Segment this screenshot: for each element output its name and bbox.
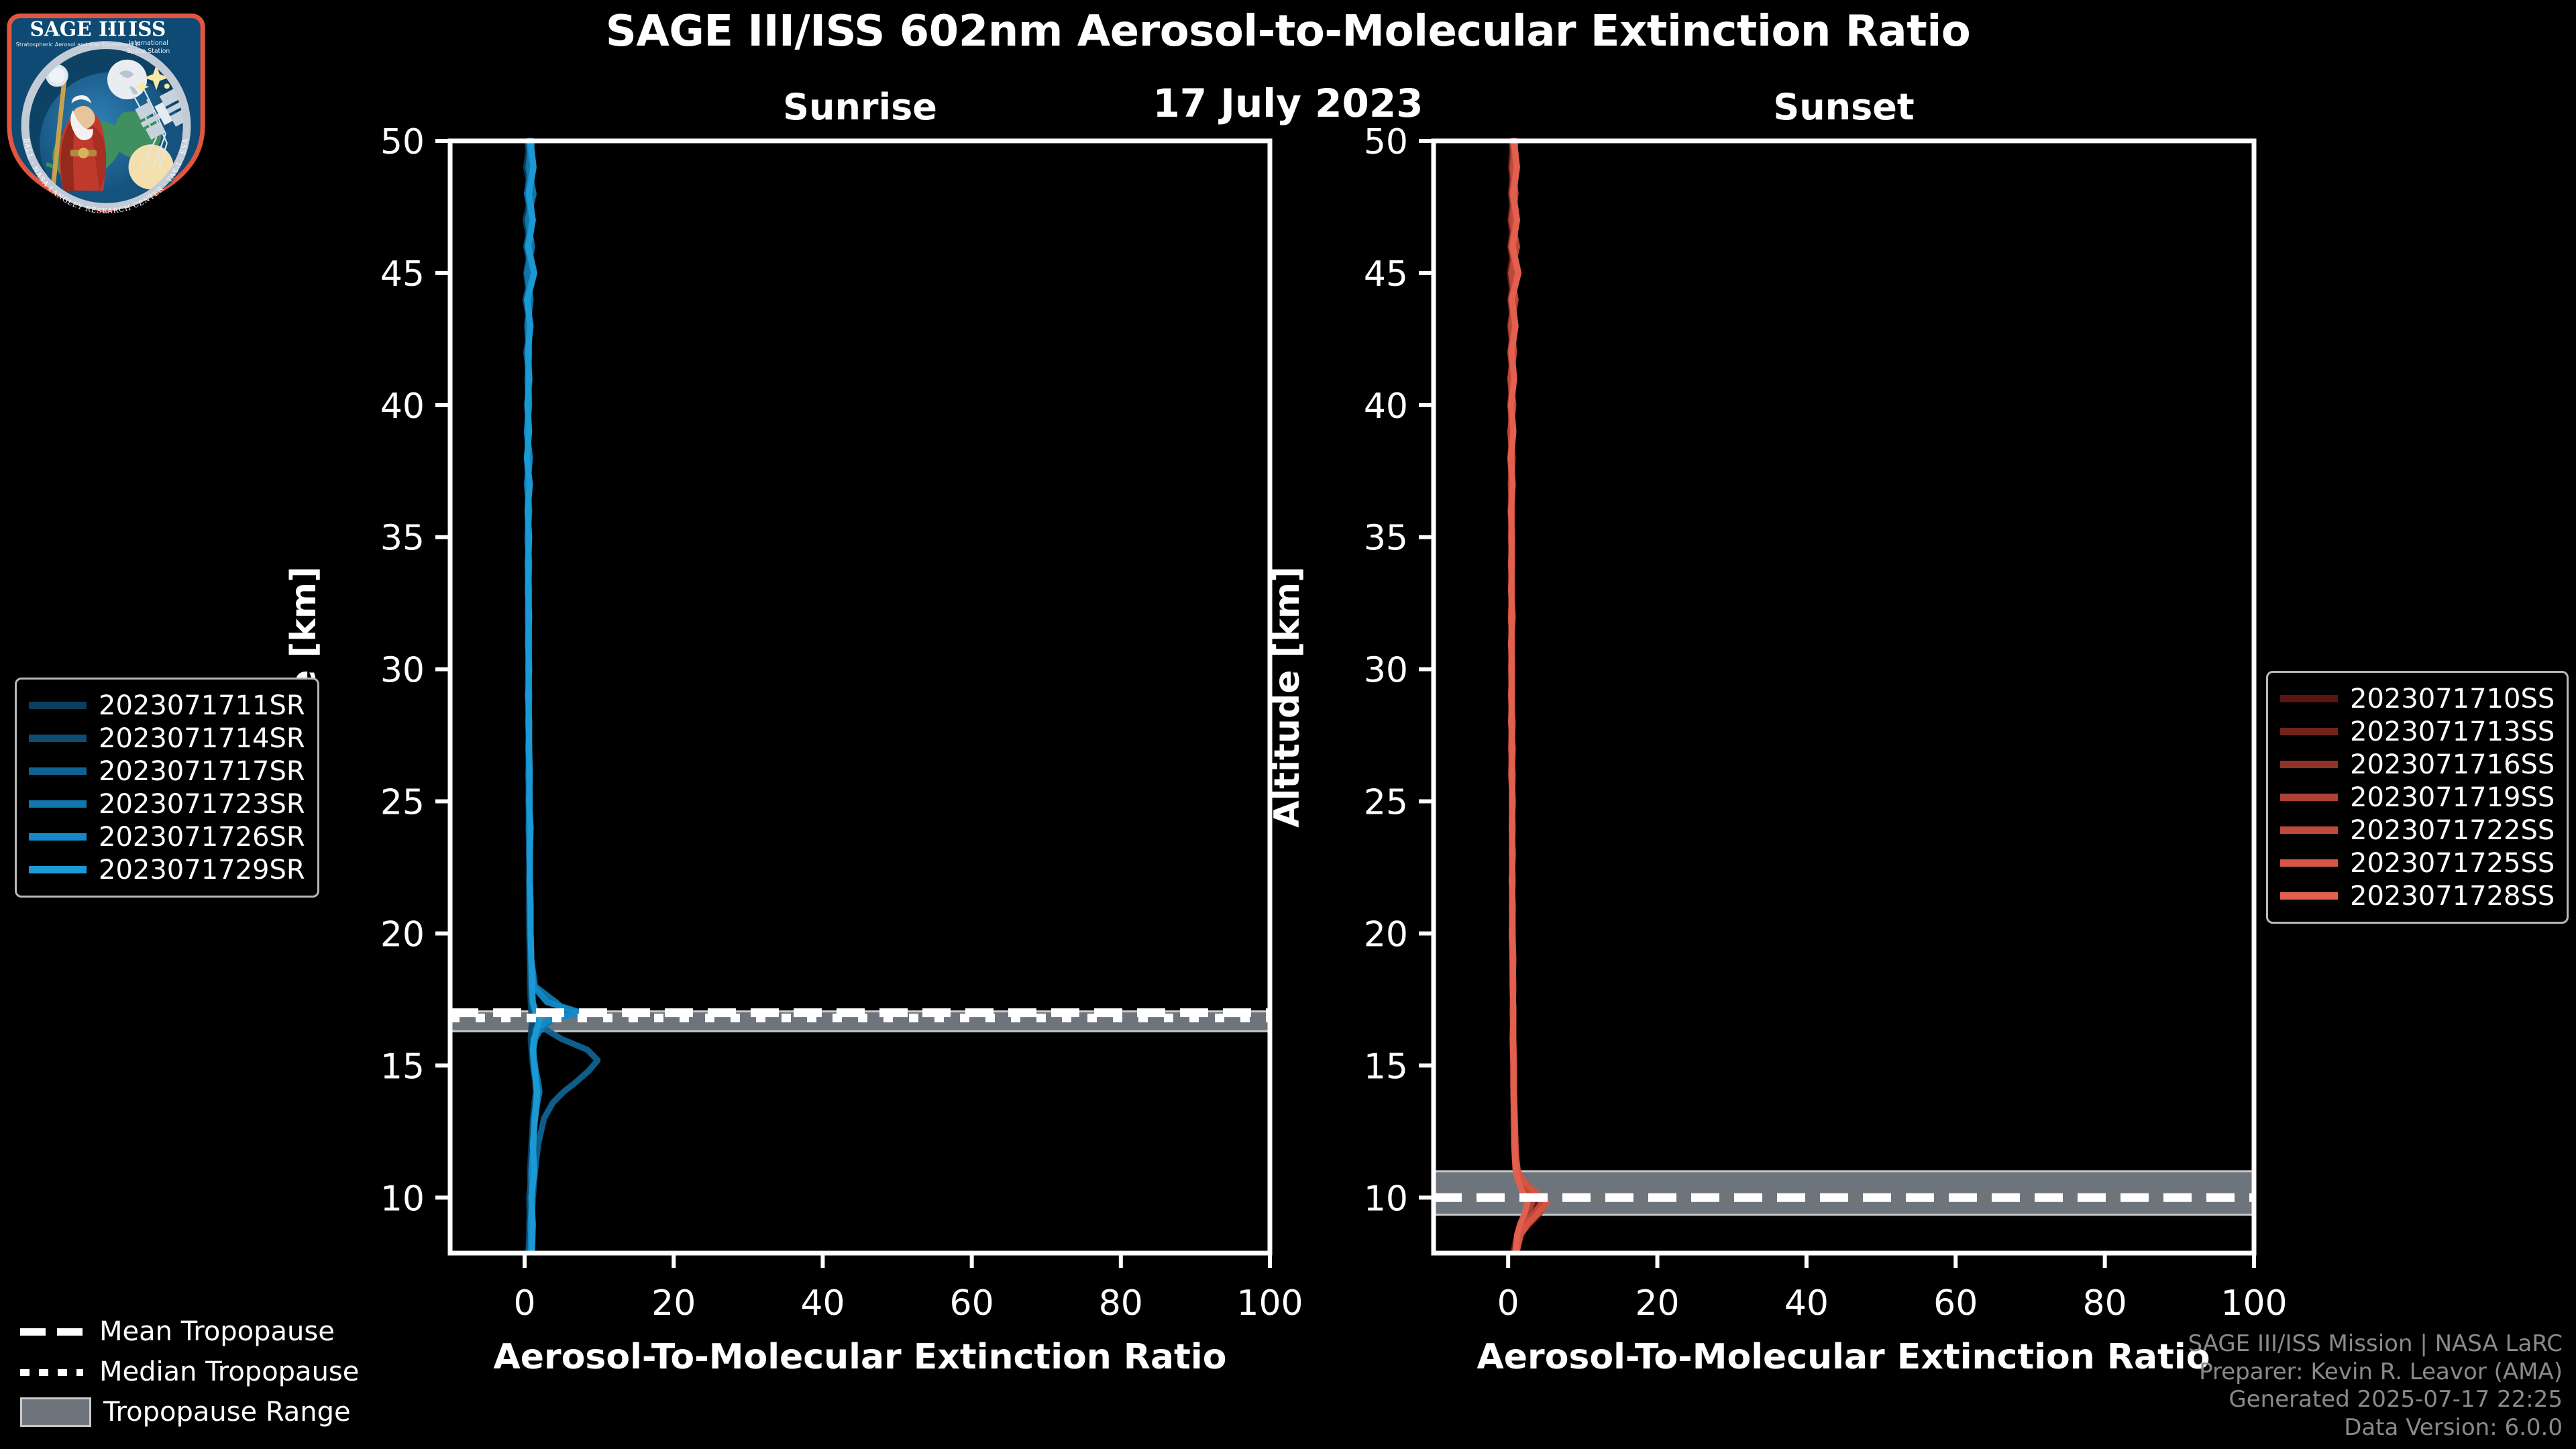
legend-label: 2023071723SR (99, 789, 305, 820)
legend-label: 2023071719SS (2350, 782, 2555, 813)
legend-color-swatch (2280, 892, 2338, 900)
y-tick-label: 10 (1364, 1179, 1408, 1219)
y-tick-label: 25 (380, 783, 425, 823)
patch-title-left: SAGE III (30, 17, 126, 40)
legend-color-swatch (2280, 761, 2338, 768)
legend-label-range: Tropopause Range (103, 1397, 351, 1428)
legend-sunset[interactable]: 2023071710SS2023071713SS2023071716SS2023… (2266, 671, 2569, 924)
legend-label: 2023071713SS (2350, 716, 2555, 747)
patch-subtitle-right-2: Space Station (127, 48, 170, 55)
legend-sunset-item[interactable]: 2023071725SS (2280, 847, 2555, 879)
legend-color-swatch (29, 735, 87, 742)
x-tick-label: 20 (651, 1283, 696, 1324)
panel-sunrise: 020406080100101520253035404550Aerosol-To… (284, 122, 1303, 1377)
legend-label: 2023071726SR (99, 822, 305, 853)
legend-label: 2023071717SR (99, 756, 305, 787)
legend-label-median: Median Tropopause (99, 1356, 359, 1387)
x-tick-label: 60 (1933, 1283, 1978, 1324)
legend-tropopause: Mean Tropopause Median Tropopause Tropop… (20, 1311, 359, 1432)
legend-item-tropopause-range: Tropopause Range (20, 1392, 359, 1432)
y-tick-label: 45 (380, 254, 425, 294)
range-band-icon (20, 1397, 91, 1427)
legend-sunset-item[interactable]: 2023071713SS (2280, 715, 2555, 748)
x-axis-label: Aerosol-To-Molecular Extinction Ratio (494, 1337, 1227, 1377)
series-line (527, 141, 539, 1250)
footer-line-version: Data Version: 6.0.0 (2188, 1414, 2563, 1442)
patch-dot: · (107, 19, 112, 38)
legend-label: 2023071729SR (99, 855, 305, 885)
legend-sunrise-item[interactable]: 2023071726SR (29, 820, 305, 853)
legend-item-median-tropopause: Median Tropopause (20, 1352, 359, 1392)
legend-sunset-item[interactable]: 2023071722SS (2280, 814, 2555, 847)
y-tick-label: 40 (380, 386, 425, 427)
footer-line-preparer: Preparer: Kevin R. Leavor (AMA) (2188, 1358, 2563, 1387)
y-tick-label: 35 (380, 519, 425, 559)
legend-sunset-item[interactable]: 2023071716SS (2280, 748, 2555, 781)
sage-iii-iss-mission-patch: BALL · NASA LANGLEY RESEARCH CENTER · TA… (0, 1, 212, 213)
y-tick-label: 35 (1364, 519, 1408, 559)
legend-color-swatch (29, 800, 87, 808)
y-tick-label: 30 (1364, 651, 1408, 691)
panel-sunset: 020406080100101520253035404550Aerosol-To… (1267, 122, 2288, 1377)
legend-color-swatch (2280, 695, 2338, 702)
dotted-line-icon (20, 1363, 87, 1381)
y-tick-label: 25 (1364, 783, 1408, 823)
legend-sunrise-item[interactable]: 2023071711SR (29, 689, 305, 722)
plot-canvas: 020406080100101520253035404550Aerosol-To… (0, 0, 2576, 1449)
legend-color-swatch (2280, 859, 2338, 867)
x-tick-label: 80 (2083, 1283, 2127, 1324)
x-tick-label: 40 (1784, 1283, 1829, 1324)
y-tick-label: 20 (1364, 914, 1408, 955)
legend-item-mean-tropopause: Mean Tropopause (20, 1311, 359, 1352)
legend-sunrise-item[interactable]: 2023071717SR (29, 755, 305, 788)
legend-label: 2023071711SR (99, 690, 305, 721)
x-tick-label: 60 (950, 1283, 994, 1324)
x-tick-label: 100 (1236, 1283, 1303, 1324)
legend-label: 2023071728SS (2350, 881, 2555, 912)
x-axis-label: Aerosol-To-Molecular Extinction Ratio (1477, 1337, 2210, 1377)
x-tick-label: 40 (800, 1283, 845, 1324)
legend-sunset-item[interactable]: 2023071719SS (2280, 781, 2555, 814)
patch-subtitle-left: Stratospheric Aerosol and Gas Experiment… (16, 41, 141, 48)
legend-label: 2023071725SS (2350, 848, 2555, 879)
dashed-line-icon (20, 1323, 87, 1340)
legend-label: 2023071722SS (2350, 815, 2555, 846)
patch-title-right: ISS (128, 17, 166, 40)
legend-sunrise[interactable]: 2023071711SR2023071714SR2023071717SR2023… (15, 678, 319, 898)
tropopause-range-band (1434, 1171, 2254, 1215)
y-tick-label: 45 (1364, 254, 1408, 294)
x-tick-label: 0 (514, 1283, 536, 1324)
legend-sunrise-item[interactable]: 2023071729SR (29, 853, 305, 886)
legend-sunrise-item[interactable]: 2023071714SR (29, 722, 305, 755)
y-tick-label: 50 (1364, 122, 1408, 162)
footer-line-mission: SAGE III/ISS Mission | NASA LaRC (2188, 1330, 2563, 1358)
x-tick-label: 0 (1497, 1283, 1519, 1324)
x-tick-label: 80 (1099, 1283, 1143, 1324)
plot-frame (1434, 141, 2254, 1253)
legend-color-swatch (2280, 826, 2338, 834)
y-tick-label: 15 (1364, 1046, 1408, 1087)
y-tick-label: 15 (380, 1046, 425, 1087)
y-tick-label: 10 (380, 1179, 425, 1219)
y-tick-label: 30 (380, 651, 425, 691)
x-tick-label: 20 (1635, 1283, 1679, 1324)
footer-credits: SAGE III/ISS Mission | NASA LaRC Prepare… (2188, 1330, 2563, 1442)
legend-color-swatch (29, 833, 87, 841)
legend-color-swatch (2280, 794, 2338, 801)
legend-label: 2023071714SR (99, 723, 305, 754)
legend-color-swatch (2280, 728, 2338, 735)
legend-sunset-item[interactable]: 2023071728SS (2280, 879, 2555, 912)
legend-sunrise-item[interactable]: 2023071723SR (29, 788, 305, 820)
legend-label: 2023071710SS (2350, 684, 2555, 714)
footer-line-generated: Generated 2025-07-17 22:25 (2188, 1386, 2563, 1414)
legend-label-mean: Mean Tropopause (99, 1316, 335, 1347)
patch-subtitle-right-1: International (129, 40, 168, 47)
y-tick-label: 40 (1364, 386, 1408, 427)
legend-sunset-item[interactable]: 2023071710SS (2280, 682, 2555, 715)
y-axis-label: Altitude [km] (1267, 566, 1307, 828)
y-tick-label: 20 (380, 914, 425, 955)
legend-color-swatch (29, 702, 87, 709)
y-tick-label: 50 (380, 122, 425, 162)
series-line (1511, 141, 1528, 1250)
legend-color-swatch (29, 866, 87, 873)
x-tick-label: 100 (2220, 1283, 2287, 1324)
plot-page: SAGE III/ISS 602nm Aerosol-to-Molecular … (0, 0, 2576, 1449)
legend-label: 2023071716SS (2350, 749, 2555, 780)
legend-color-swatch (29, 767, 87, 775)
